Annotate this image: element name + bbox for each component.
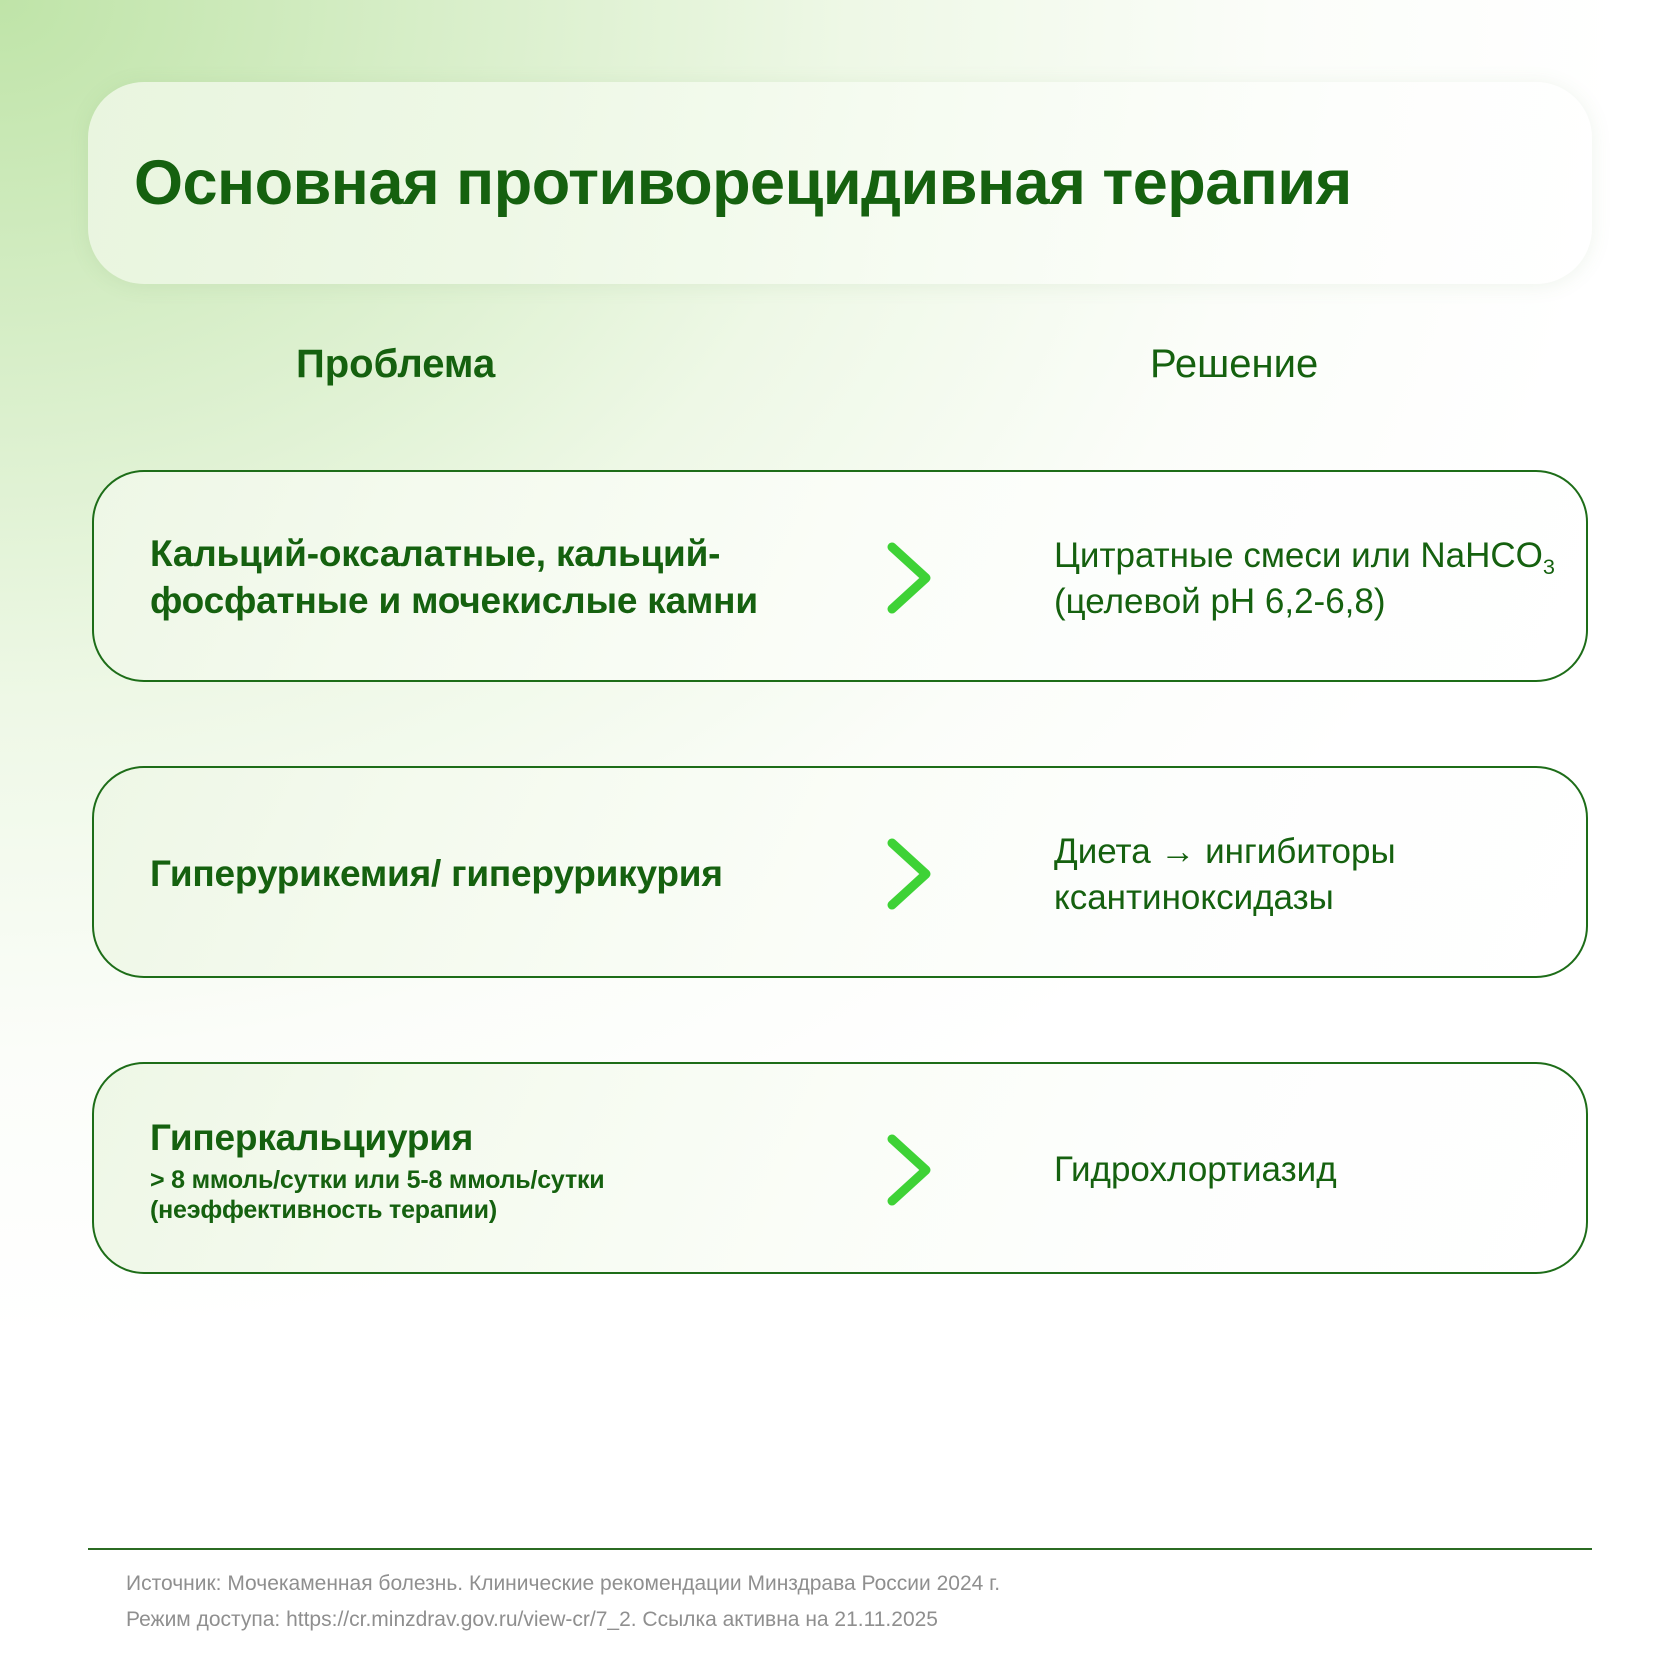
solution-line-1: Гидрохлортиазид — [1054, 1147, 1574, 1193]
solution-text: Цитратные смеси или NaHCO — [1054, 536, 1543, 575]
problem-subtitle: > 8 ммоль/сутки или 5-8 ммоль/сутки (неэ… — [150, 1165, 810, 1226]
row-solution-cell: Диета → ингибиторы ксантиноксидазы — [1054, 829, 1574, 920]
source-line-2: Режим доступа: https://cr.minzdrav.gov.r… — [126, 1602, 1546, 1638]
solution-line-2: ксантиноксидазы — [1054, 875, 1574, 921]
chevron-right-icon — [882, 539, 944, 617]
column-headers: Проблема Решение — [0, 344, 1680, 404]
table-row: Гиперкальциурия > 8 ммоль/сутки или 5-8 … — [92, 1062, 1588, 1274]
table-row: Гиперурикемия/ гиперурикурия Диета → инг… — [92, 766, 1588, 978]
column-header-solution: Решение — [1150, 344, 1318, 384]
source-line-1: Источник: Мочекаменная болезнь. Клиничес… — [126, 1566, 1546, 1602]
row-solution-cell: Гидрохлортиазид — [1054, 1147, 1574, 1193]
solution-line-1: Цитратные смеси или NaHCO3 — [1054, 533, 1574, 579]
row-problem-cell: Гиперкальциурия > 8 ммоль/сутки или 5-8 … — [150, 1115, 810, 1226]
row-problem-cell: Кальций-оксалатные, кальций-фосфатные и … — [150, 531, 810, 624]
row-solution-cell: Цитратные смеси или NaHCO3 (целевой pH 6… — [1054, 533, 1574, 624]
problem-title: Кальций-оксалатные, кальций-фосфатные и … — [150, 531, 810, 624]
column-header-problem: Проблема — [296, 344, 495, 384]
solution-text: Гидрохлортиазид — [1054, 1150, 1337, 1189]
title-plate: Основная противорецидивная терапия — [88, 82, 1592, 284]
infographic-poster: Основная противорецидивная терапия Пробл… — [0, 0, 1680, 1680]
solution-line-2: (целевой pH 6,2-6,8) — [1054, 579, 1574, 625]
chevron-right-icon — [882, 1131, 944, 1209]
footer-divider — [88, 1548, 1592, 1550]
solution-subscript: 3 — [1543, 554, 1555, 579]
source-note: Источник: Мочекаменная болезнь. Клиничес… — [126, 1566, 1546, 1637]
chevron-right-icon — [882, 835, 944, 913]
page-title: Основная противорецидивная терапия — [134, 150, 1352, 216]
problem-title: Гиперурикемия/ гиперурикурия — [150, 851, 810, 898]
row-problem-cell: Гиперурикемия/ гиперурикурия — [150, 851, 810, 898]
solution-line-1: Диета → ингибиторы — [1054, 829, 1574, 875]
problem-title: Гиперкальциурия — [150, 1115, 810, 1162]
solution-text: Диета → ингибиторы — [1054, 832, 1396, 871]
table-row: Кальций-оксалатные, кальций-фосфатные и … — [92, 470, 1588, 682]
